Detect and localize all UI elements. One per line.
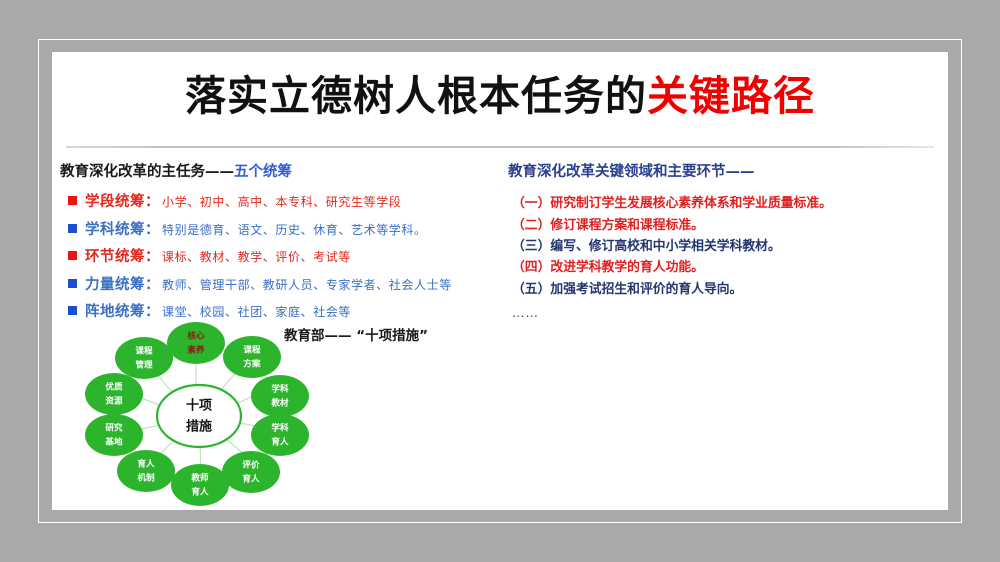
- node-label-line2: 方案: [243, 358, 261, 370]
- title-divider: [66, 146, 934, 148]
- bullet-square-icon: [68, 224, 77, 233]
- diagram-node: 育人 机制: [117, 450, 175, 492]
- node-label-line2: 机制: [137, 472, 155, 484]
- node-label-line1: 研究: [105, 422, 123, 434]
- diagram-node: 研究 基地: [85, 414, 143, 456]
- bullet-square-icon: [68, 196, 77, 205]
- right-column: 教育深化改革关键领域和主要环节—— （一）研究制订学生发展核心素养体系和学业质量…: [508, 164, 938, 320]
- bullet-square-icon: [68, 279, 77, 288]
- node-label-line1: 学科: [271, 422, 289, 434]
- node-label-line2: 资源: [105, 395, 123, 407]
- diagram-node: 优质 资源: [85, 373, 143, 415]
- list-item: 学科统筹： 特别是德育、语文、历史、休育、艺术等学科。: [68, 218, 520, 239]
- list-item: （二）修订课程方案和课程标准。: [512, 220, 938, 233]
- diagram-node: 课程 方案: [223, 336, 281, 378]
- list-item: 阵地统筹： 课堂、校园、社团、家庭、社会等: [68, 300, 520, 321]
- list-item: 学段统筹： 小学、初中、高中、本专科、研究生等学段: [68, 190, 520, 211]
- node-label-line2: 管理: [135, 359, 153, 371]
- center-label-line2: 措施: [186, 419, 212, 435]
- node-label-line1: 核心: [187, 330, 205, 342]
- list-item-value: 小学、初中、高中、本专科、研究生等学段: [162, 193, 401, 210]
- node-shape: [117, 450, 175, 492]
- diagram-center-node: 十项 措施: [157, 385, 241, 447]
- diagram-node: 学科 育人: [251, 414, 309, 456]
- list-item: 力量统筹： 教师、管理干部、教研人员、专家学者、社会人士等: [68, 273, 520, 294]
- node-shape: [251, 375, 309, 417]
- diagram-node: 课程 管理: [115, 337, 173, 379]
- list-continuation-ellipsis: ……: [512, 305, 938, 320]
- node-label-line1: 优质: [105, 381, 123, 393]
- page-title-accent: 关键路径: [647, 72, 815, 120]
- list-item-key: 学科统筹：: [85, 218, 160, 239]
- page-title-primary: 落实立德树人根本任务的: [185, 72, 647, 120]
- diagram-node: 核心 素养: [167, 322, 225, 364]
- list-item: 环节统筹： 课标、教材、教学、评价、考试等: [68, 245, 520, 266]
- diagram-node: 教师 育人: [171, 464, 229, 506]
- node-shape: [85, 414, 143, 456]
- node-shape: [223, 336, 281, 378]
- left-column: 教育深化改革的主任务——五个统筹 学段统筹： 小学、初中、高中、本专科、研究生等…: [60, 164, 520, 328]
- list-item-value: 课标、教材、教学、评价、考试等: [162, 248, 351, 265]
- node-shape: [222, 451, 280, 493]
- list-item: （一）研究制订学生发展核心素养体系和学业质量标准。: [512, 198, 938, 211]
- diagram-node: 学科 教材: [251, 375, 309, 417]
- list-item: （五）加强考试招生和评价的育人导向。: [512, 284, 938, 297]
- diagram-caption: 教育部—— “十项措施”: [284, 324, 428, 344]
- content-columns: 教育深化改革的主任务——五个统筹 学段统筹： 小学、初中、高中、本专科、研究生等…: [52, 164, 948, 344]
- bullet-square-icon: [68, 306, 77, 315]
- node-shape: [167, 322, 225, 364]
- center-node-shape: [157, 385, 241, 447]
- list-item-value: 课堂、校园、社团、家庭、社会等: [162, 303, 351, 320]
- slide-canvas: 落实立德树人根本任务的关键路径 教育深化改革的主任务——五个统筹 学段统筹： 小…: [52, 52, 948, 510]
- node-shape: [115, 337, 173, 379]
- list-item-key: 力量统筹：: [85, 273, 160, 294]
- left-heading-accent: 五个统筹: [234, 164, 292, 180]
- page-title: 落实立德树人根本任务的关键路径: [52, 76, 948, 117]
- node-label-line1: 课程: [135, 345, 153, 357]
- node-shape: [85, 373, 143, 415]
- node-shape: [251, 414, 309, 456]
- node-label-line2: 素养: [187, 344, 205, 356]
- node-shape: [171, 464, 229, 506]
- node-label-line1: 教师: [191, 472, 209, 484]
- list-item-key: 学段统筹：: [85, 190, 160, 211]
- node-label-line2: 育人: [271, 436, 289, 448]
- list-item-key: 环节统筹：: [85, 245, 160, 266]
- diagram-canvas: 核心 素养 课程 方案 学科 教材: [62, 320, 362, 508]
- list-item-key: 阵地统筹：: [85, 300, 160, 321]
- left-column-heading: 教育深化改革的主任务——五个统筹: [60, 164, 520, 181]
- center-label-line1: 十项: [186, 398, 212, 414]
- slide-viewer: 落实立德树人根本任务的关键路径 教育深化改革的主任务——五个统筹 学段统筹： 小…: [0, 0, 1000, 562]
- list-item: （四）改进学科教学的育人功能。: [512, 262, 938, 275]
- list-item-value: 教师、管理干部、教研人员、专家学者、社会人士等: [162, 276, 452, 293]
- left-heading-primary: 教育深化改革的主任务——: [60, 164, 234, 180]
- node-label-line2: 基地: [104, 436, 123, 448]
- node-label-line1: 课程: [243, 344, 261, 356]
- node-label-line2: 教材: [271, 397, 289, 409]
- list-item: （三）编写、修订高校和中小学相关学科教材。: [512, 241, 938, 254]
- node-label-line1: 学科: [271, 383, 289, 395]
- node-label-line1: 评价: [242, 459, 260, 471]
- ten-measures-diagram: 教育部—— “十项措施”: [62, 320, 492, 508]
- list-item-value: 特别是德育、语文、历史、休育、艺术等学科。: [162, 221, 427, 238]
- diagram-node: 评价 育人: [222, 451, 280, 493]
- node-label-line2: 育人: [242, 473, 260, 485]
- right-column-heading: 教育深化改革关键领域和主要环节——: [508, 164, 938, 181]
- bullet-square-icon: [68, 251, 77, 260]
- node-label-line1: 育人: [137, 458, 155, 470]
- node-label-line2: 育人: [191, 486, 209, 498]
